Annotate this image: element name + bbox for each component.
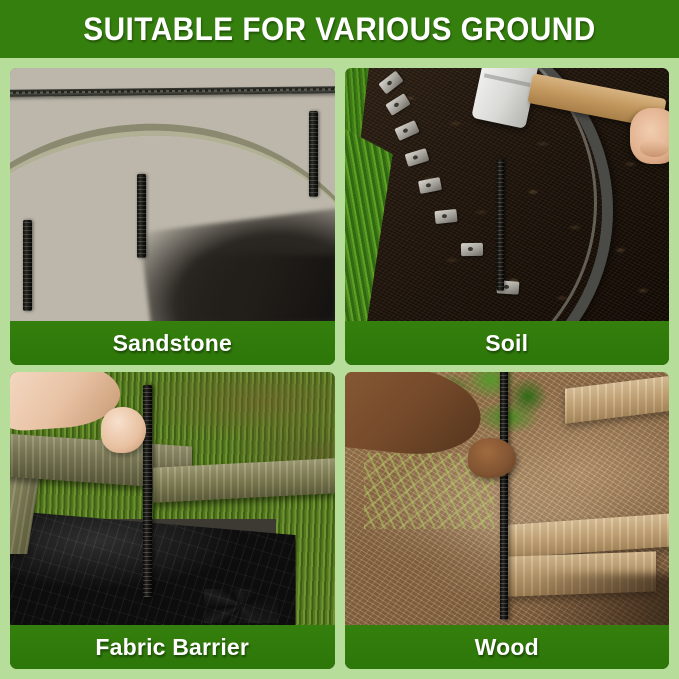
fabric-crease [204,589,278,623]
caption-label: Soil [485,330,528,357]
rebar-stake [143,385,152,598]
rebar-stake [23,220,32,311]
caption-label: Sandstone [113,330,232,357]
rebar-stake [137,174,146,257]
panel-sandstone[interactable]: Sandstone [10,68,335,365]
product-infographic: SUITABLE FOR VARIOUS GROUND Sandstone [0,0,679,679]
shadow [533,574,669,625]
caption-bar-soil: Soil [345,321,670,365]
landscape-fabric [10,504,296,625]
rebar-stake [500,372,508,620]
photo-soil [345,68,670,321]
photo-wood [345,372,670,625]
panel-wood[interactable]: Wood [345,372,670,669]
edging-tab [461,242,483,255]
page-title: SUITABLE FOR VARIOUS GROUND [83,11,595,48]
panel-soil[interactable]: Soil [345,68,670,365]
caption-label: Fabric Barrier [95,634,249,661]
hand [468,438,517,478]
edging-tab [435,209,458,224]
caption-bar-sandstone: Sandstone [10,321,335,365]
hand [101,407,146,453]
caption-label: Wood [475,634,539,661]
caption-bar-wood: Wood [345,625,670,669]
panel-grid: Sandstone [0,58,679,679]
photo-sandstone [10,68,335,321]
rebar-stake [309,111,318,197]
photo-fabric-barrier [10,372,335,625]
header-banner: SUITABLE FOR VARIOUS GROUND [0,0,679,58]
caption-bar-fabric-barrier: Fabric Barrier [10,625,335,669]
finger [640,139,669,157]
rebar-stake [497,159,504,291]
panel-fabric-barrier[interactable]: Fabric Barrier [10,372,335,669]
